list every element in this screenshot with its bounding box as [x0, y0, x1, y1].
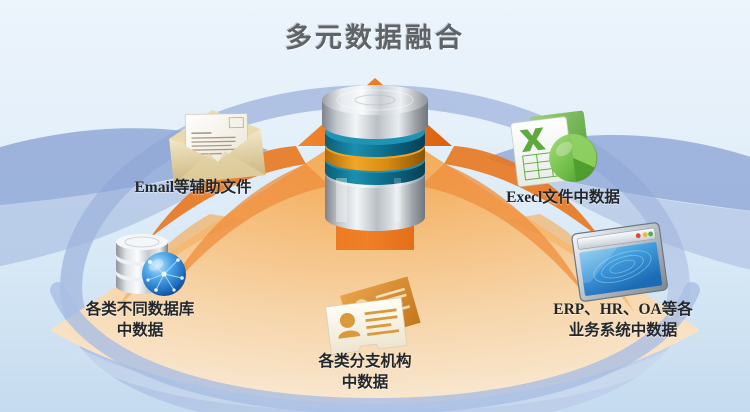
label-branch-line-1: 各类分支机构 — [250, 352, 480, 373]
label-email-line-1: Email等辅助文件 — [78, 178, 308, 199]
label-erp: ERP、HR、OA等各 业务系统中数据 — [508, 300, 738, 342]
label-branch: 各类分支机构 中数据 — [250, 352, 480, 394]
label-database-line-1: 各类不同数据库 — [35, 300, 245, 321]
label-database: 各类不同数据库 中数据 — [35, 300, 245, 342]
central-database-icon — [296, 74, 454, 242]
label-erp-line-1: ERP、HR、OA等各 — [508, 300, 738, 321]
label-erp-line-2: 业务系统中数据 — [508, 321, 738, 342]
id-cards-icon — [312, 280, 432, 360]
label-excel: Execl文件中数据 — [448, 188, 678, 209]
label-branch-line-2: 中数据 — [250, 373, 480, 394]
database-network-icon — [100, 228, 200, 300]
envelope-letter-icon — [160, 104, 272, 184]
label-excel-line-1: Execl文件中数据 — [448, 188, 678, 209]
diagram-canvas: 多元数据融合 — [0, 0, 750, 412]
label-database-line-2: 中数据 — [35, 321, 245, 342]
excel-document-icon — [500, 106, 612, 192]
monitor-screen-icon — [570, 222, 670, 306]
page-title: 多元数据融合 — [0, 16, 750, 55]
label-email: Email等辅助文件 — [78, 178, 308, 199]
